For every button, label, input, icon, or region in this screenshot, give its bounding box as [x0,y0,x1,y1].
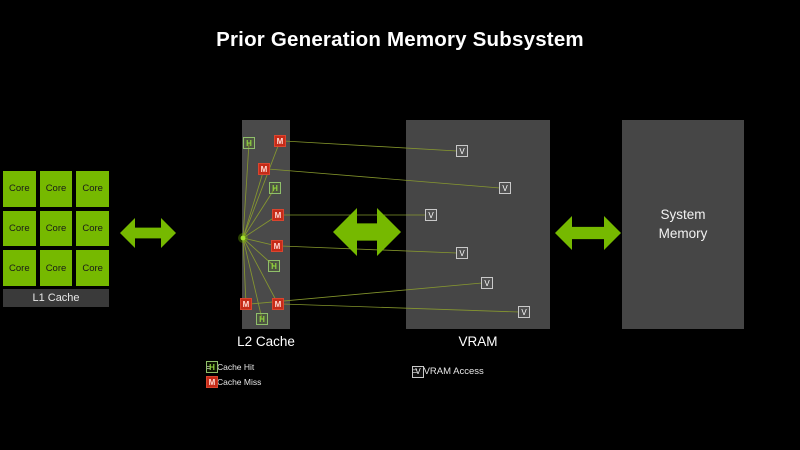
cache-hit-marker: H [243,137,255,149]
cache-hit-marker: H [269,182,281,194]
legend-vram-access: V = VRAM Access [412,366,484,377]
legend-vram-access-label: VRAM Access [424,366,484,377]
system-memory-line2: Memory [659,226,708,241]
vram-access-marker: V [456,145,468,157]
vram-access-marker: V [481,277,493,289]
l2-to-vram-arrow [333,208,401,256]
core-cell: Core [3,171,36,207]
legend-cache-hit-label: Cache Hit [217,362,254,372]
core-cell: Core [76,171,109,207]
vram-panel [406,120,550,329]
legend-cache-miss-label: Cache Miss [217,377,261,387]
cache-miss-marker: M [272,298,284,310]
cores-to-l2-arrow [120,218,176,248]
l2-cache-caption: L2 Cache [216,334,316,349]
core-grid: Core Core Core Core Core Core Core Core … [3,171,109,286]
core-cell: Core [76,250,109,286]
cache-miss-marker: M [258,163,270,175]
vram-to-system-memory-arrow [555,216,621,250]
slide-canvas: Prior Generation Memory Subsystem Core C… [0,0,800,450]
core-cell: Core [76,211,109,247]
vram-access-marker: V [456,247,468,259]
cache-miss-marker: M [271,240,283,252]
system-memory-label: System Memory [622,205,744,243]
cache-miss-icon: M [206,376,218,388]
core-cell: Core [3,250,36,286]
vram-access-marker: V [425,209,437,221]
cache-miss-marker: M [272,209,284,221]
core-cell: Core [40,171,73,207]
legend-cache-hit: H = Cache Hit [206,362,254,372]
legend-cache-miss: M = Cache Miss [206,377,261,387]
core-cell: Core [3,211,36,247]
cache-hit-icon: H [206,361,218,373]
l1-cache-block: L1 Cache [3,289,109,307]
core-cell: Core [40,250,73,286]
cache-hit-marker: H [256,313,268,325]
cache-miss-marker: M [240,298,252,310]
cache-hit-marker: H [268,260,280,272]
cache-miss-marker: M [274,135,286,147]
vram-caption: VRAM [428,334,528,349]
vram-access-marker: V [518,306,530,318]
system-memory-line1: System [660,207,705,222]
vram-access-marker: V [499,182,511,194]
page-title: Prior Generation Memory Subsystem [0,28,800,52]
vram-access-icon: V [412,366,424,378]
core-cell: Core [40,211,73,247]
